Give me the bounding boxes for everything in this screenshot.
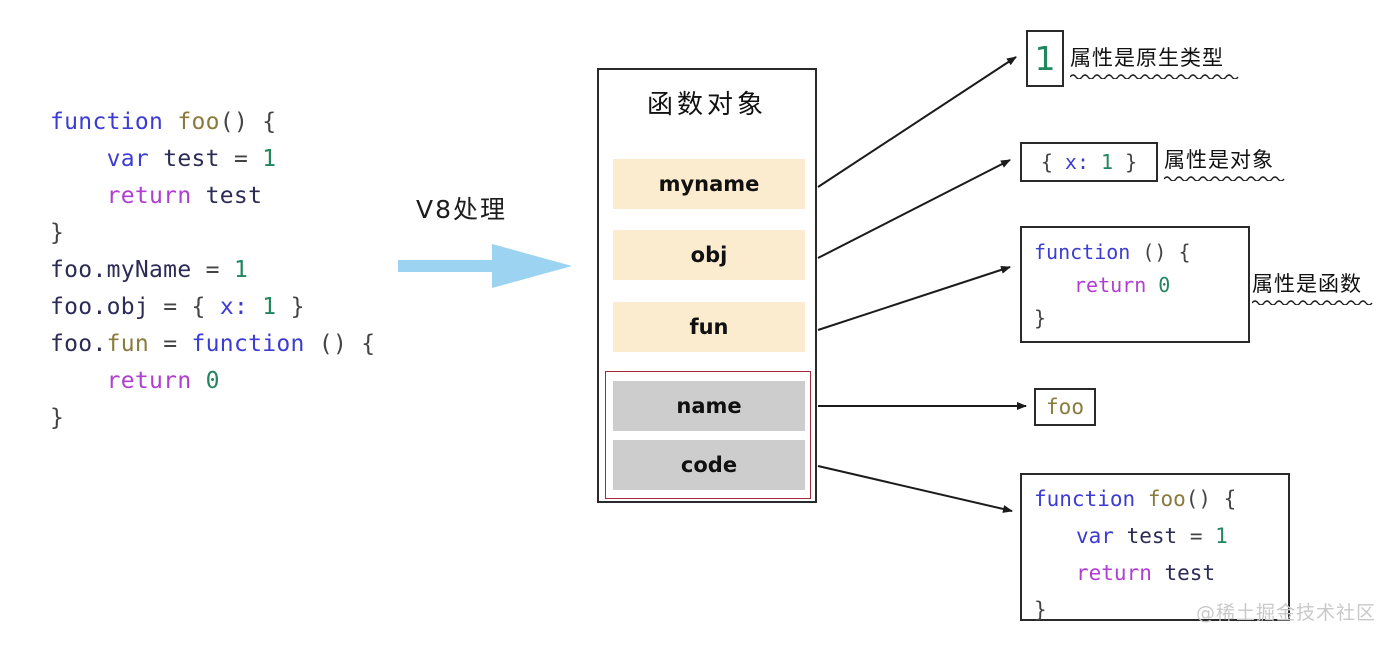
keyword-return: return xyxy=(1074,273,1146,297)
wavy-underline-icon xyxy=(1164,175,1288,181)
object-key-x: x: xyxy=(1065,150,1089,174)
operator-assign: = xyxy=(1190,524,1203,548)
identifier-test: test xyxy=(1165,561,1216,585)
keyword-var: var xyxy=(1076,524,1114,548)
keyword-function: function xyxy=(50,109,163,135)
operator-assign: = xyxy=(206,257,220,283)
annotation-function: 属性是函数 xyxy=(1252,268,1376,309)
v8-process-label: V8处理 xyxy=(416,190,507,226)
value-box-object: { x: 1 } xyxy=(1020,142,1158,182)
keyword-function: function xyxy=(1034,487,1135,511)
annotation-object-text: 属性是对象 xyxy=(1164,148,1274,172)
function-object-title: 函数对象 xyxy=(599,84,815,121)
property-row-name[interactable]: name xyxy=(613,381,805,431)
code-line: foo.obj = { x: 1 } xyxy=(50,294,305,320)
member-foo: foo. xyxy=(50,331,107,357)
punctuation: () { xyxy=(319,331,376,357)
brace-open: { xyxy=(1041,150,1053,174)
source-code-block: function foo() { var test = 1 return tes… xyxy=(50,104,375,437)
annotation-primitive: 属性是原生类型 xyxy=(1070,42,1240,83)
number-literal: 1 xyxy=(262,294,276,320)
operator-assign: = xyxy=(163,294,177,320)
brace-close: } xyxy=(50,405,64,431)
primitive-value: 1 xyxy=(1035,39,1056,78)
keyword-return: return xyxy=(1076,561,1152,585)
keyword-function: function xyxy=(192,331,305,357)
member-foo-obj: foo.obj xyxy=(50,294,149,320)
annotation-function-text: 属性是函数 xyxy=(1252,272,1362,296)
identifier-foo: foo xyxy=(1148,487,1186,511)
number-literal: 1 xyxy=(234,257,248,283)
identifier-test: test xyxy=(163,146,220,172)
connector-myname-to-primitive xyxy=(818,57,1016,187)
object-key-x: x: xyxy=(220,294,248,320)
connector-code-to-source xyxy=(818,466,1012,511)
property-row-myname[interactable]: myname xyxy=(613,159,805,209)
brace-close: } xyxy=(1034,598,1047,622)
number-literal: 0 xyxy=(206,368,220,394)
code-line: return 0 xyxy=(50,368,220,394)
number-literal: 1 xyxy=(1215,524,1228,548)
number-literal: 1 xyxy=(1101,150,1113,174)
member-foo-myname: foo.myName xyxy=(50,257,191,283)
wavy-underline-icon xyxy=(1252,299,1376,305)
connector-obj-to-object xyxy=(818,160,1010,258)
identifier-foo: foo xyxy=(177,109,219,135)
code-line: } xyxy=(50,220,64,246)
code-line: } xyxy=(50,405,64,431)
wavy-underline-icon xyxy=(1070,73,1240,79)
function-object-box: 函数对象 myname obj fun name code xyxy=(597,68,817,503)
connector-fun-to-function xyxy=(818,267,1010,330)
keyword-return: return xyxy=(107,183,192,209)
brace-open: { xyxy=(192,294,206,320)
operator-assign: = xyxy=(163,331,177,357)
punctuation: () { xyxy=(1186,487,1237,511)
watermark: @稀土掘金技术社区 xyxy=(1196,598,1376,625)
code-line: function foo() { xyxy=(50,109,276,135)
property-row-fun[interactable]: fun xyxy=(613,302,805,352)
brace-close: } xyxy=(50,220,64,246)
code-line: foo.fun = function () { xyxy=(50,331,375,357)
code-line: return test xyxy=(50,183,262,209)
number-literal: 0 xyxy=(1158,273,1170,297)
value-box-name: foo xyxy=(1034,388,1096,426)
identifier-test: test xyxy=(206,183,263,209)
keyword-var: var xyxy=(107,146,149,172)
identifier-test: test xyxy=(1127,524,1178,548)
keyword-return: return xyxy=(107,368,192,394)
code-line: foo.myName = 1 xyxy=(50,257,248,283)
v8-arrow-icon xyxy=(396,238,576,294)
code-line: var test = 1 xyxy=(50,146,276,172)
brace-close: } xyxy=(291,294,305,320)
annotation-primitive-text: 属性是原生类型 xyxy=(1070,46,1224,70)
annotation-object: 属性是对象 xyxy=(1164,144,1288,185)
value-box-primitive: 1 xyxy=(1026,30,1064,87)
property-row-obj[interactable]: obj xyxy=(613,230,805,280)
property-row-code[interactable]: code xyxy=(613,440,805,490)
brace-close: } xyxy=(1034,306,1046,330)
value-box-function: function () { return 0 } xyxy=(1020,226,1250,343)
diagram-canvas: function foo() { var test = 1 return tes… xyxy=(0,0,1392,645)
brace-close: } xyxy=(1125,150,1137,174)
punctuation: () { xyxy=(1130,240,1190,264)
keyword-function: function xyxy=(1034,240,1130,264)
number-literal: 1 xyxy=(262,146,276,172)
operator-assign: = xyxy=(234,146,248,172)
punctuation: () { xyxy=(220,109,277,135)
member-fun: fun xyxy=(107,331,149,357)
